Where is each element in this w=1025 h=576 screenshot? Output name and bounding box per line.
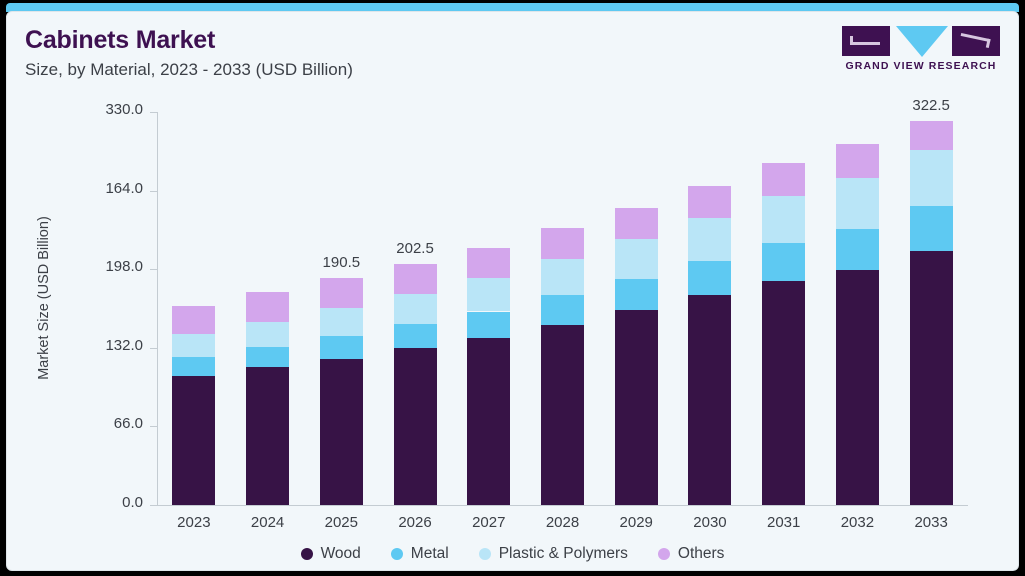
legend-item-metal[interactable]: Metal <box>391 545 449 563</box>
bar-segment-others[interactable] <box>246 292 289 321</box>
x-axis-tick-label: 2032 <box>826 514 889 531</box>
bar-segment-others[interactable] <box>910 121 953 150</box>
bar-segment-metal[interactable] <box>541 295 584 324</box>
grand-view-research-logo: GRAND VIEW RESEARCH <box>842 26 1000 78</box>
bar-segment-others[interactable] <box>836 144 879 179</box>
y-axis-tick-mark <box>150 112 157 113</box>
y-axis-tick-mark <box>150 269 157 270</box>
x-axis-tick-label: 2026 <box>384 514 447 531</box>
bar-group[interactable]: 202.5 <box>394 264 437 505</box>
bar-segment-plastic-polymers[interactable] <box>394 294 437 324</box>
bar-segment-wood[interactable] <box>910 251 953 505</box>
y-axis-tick: 66.0 <box>7 426 157 427</box>
y-axis-tick-label: 198.0 <box>105 258 143 275</box>
bar-segment-metal[interactable] <box>836 229 879 269</box>
x-axis-tick-label: 2028 <box>531 514 594 531</box>
bar-total-label: 190.5 <box>323 254 361 271</box>
bar-segment-plastic-polymers[interactable] <box>910 150 953 207</box>
bar-segment-metal[interactable] <box>910 206 953 251</box>
plot-area: Market Size (USD Billion) 330.0164.0198.… <box>7 90 1018 571</box>
bar-segment-wood[interactable] <box>688 295 731 505</box>
bar-segment-wood[interactable] <box>762 281 805 505</box>
y-axis-tick-mark <box>150 348 157 349</box>
bar-segment-metal[interactable] <box>246 347 289 368</box>
bar-segment-metal[interactable] <box>762 243 805 281</box>
bar-group[interactable]: 190.5 <box>320 278 363 505</box>
bar-total-label: 202.5 <box>396 240 434 257</box>
bar-segment-metal[interactable] <box>394 324 437 348</box>
y-axis-tick: 0.0 <box>7 505 157 506</box>
bar-group[interactable] <box>615 208 658 505</box>
y-axis-title: Market Size (USD Billion) <box>36 198 52 398</box>
bar-segment-metal[interactable] <box>467 312 510 339</box>
bar-group[interactable] <box>688 186 731 505</box>
bar-segment-wood[interactable] <box>172 376 215 505</box>
x-axis-tick-label: 2030 <box>678 514 741 531</box>
bar-group[interactable] <box>541 228 584 505</box>
bar-segment-wood[interactable] <box>467 338 510 505</box>
bar-group[interactable] <box>836 144 879 505</box>
logo-mark <box>842 26 1000 58</box>
bar-segment-wood[interactable] <box>246 367 289 505</box>
bar-group[interactable] <box>762 163 805 505</box>
x-axis-line <box>157 505 968 506</box>
bar-group[interactable] <box>467 248 510 505</box>
chart-legend: WoodMetalPlastic & PolymersOthers <box>7 545 1018 563</box>
legend-swatch-icon <box>391 548 403 560</box>
logo-right-block-icon <box>952 26 1000 56</box>
y-axis-tick: 330.0 <box>7 112 157 113</box>
legend-label: Wood <box>321 545 361 563</box>
bar-series-container: 190.5202.5322.5 <box>157 90 968 505</box>
bar-segment-metal[interactable] <box>172 357 215 377</box>
page-title: Cabinets Market <box>25 26 215 55</box>
bar-segment-others[interactable] <box>467 248 510 278</box>
bar-segment-plastic-polymers[interactable] <box>688 218 731 261</box>
bar-segment-wood[interactable] <box>541 325 584 505</box>
bar-segment-others[interactable] <box>762 163 805 196</box>
bar-segment-wood[interactable] <box>836 270 879 505</box>
x-axis-tick-label: 2029 <box>605 514 668 531</box>
bar-segment-plastic-polymers[interactable] <box>320 308 363 336</box>
bar-segment-others[interactable] <box>688 186 731 218</box>
bar-group[interactable]: 322.5 <box>910 121 953 505</box>
legend-label: Others <box>678 545 725 563</box>
y-axis-tick-label: 164.0 <box>105 180 143 197</box>
legend-item-plastic-polymers[interactable]: Plastic & Polymers <box>479 545 628 563</box>
legend-swatch-icon <box>479 548 491 560</box>
y-axis-tick: 132.0 <box>7 348 157 349</box>
legend-swatch-icon <box>658 548 670 560</box>
bar-segment-wood[interactable] <box>615 310 658 505</box>
x-axis-tick-label: 2031 <box>752 514 815 531</box>
y-axis-tick-label: 330.0 <box>105 101 143 118</box>
logo-text: GRAND VIEW RESEARCH <box>842 60 1000 72</box>
y-axis-tick-mark <box>150 191 157 192</box>
chart-card: Cabinets Market Size, by Material, 2023 … <box>6 11 1019 571</box>
legend-label: Metal <box>411 545 449 563</box>
y-axis-tick: 198.0 <box>7 269 157 270</box>
bar-segment-metal[interactable] <box>615 279 658 311</box>
bar-segment-plastic-polymers[interactable] <box>172 334 215 357</box>
bar-segment-plastic-polymers[interactable] <box>246 322 289 347</box>
legend-swatch-icon <box>301 548 313 560</box>
y-axis-tick: 164.0 <box>7 191 157 192</box>
bar-segment-wood[interactable] <box>320 359 363 505</box>
bar-group[interactable] <box>246 292 289 505</box>
bar-segment-plastic-polymers[interactable] <box>541 259 584 295</box>
x-axis-tick-label: 2024 <box>236 514 299 531</box>
bar-segment-metal[interactable] <box>688 261 731 296</box>
bar-segment-plastic-polymers[interactable] <box>762 196 805 243</box>
bar-segment-others[interactable] <box>541 228 584 259</box>
bar-segment-plastic-polymers[interactable] <box>836 178 879 229</box>
y-axis-tick-label: 132.0 <box>105 337 143 354</box>
legend-item-others[interactable]: Others <box>658 545 725 563</box>
y-axis-tick-mark <box>150 426 157 427</box>
bar-group[interactable] <box>172 306 215 505</box>
y-axis-tick-mark <box>150 505 157 506</box>
bar-segment-others[interactable] <box>320 278 363 308</box>
bar-segment-plastic-polymers[interactable] <box>467 278 510 311</box>
bar-segment-others[interactable] <box>172 306 215 333</box>
bar-segment-metal[interactable] <box>320 336 363 359</box>
page-subtitle: Size, by Material, 2023 - 2033 (USD Bill… <box>25 60 353 80</box>
bar-segment-wood[interactable] <box>394 348 437 505</box>
legend-item-wood[interactable]: Wood <box>301 545 361 563</box>
bar-segment-others[interactable] <box>615 208 658 240</box>
logo-triangle-icon <box>896 26 948 57</box>
x-axis-tick-label: 2025 <box>310 514 373 531</box>
bar-total-label: 322.5 <box>912 97 950 114</box>
x-axis-tick-label: 2023 <box>162 514 225 531</box>
x-axis-tick-label: 2027 <box>457 514 520 531</box>
x-axis-tick-label: 2033 <box>900 514 963 531</box>
bar-segment-others[interactable] <box>394 264 437 294</box>
y-axis-tick-label: 0.0 <box>122 494 143 511</box>
legend-label: Plastic & Polymers <box>499 545 628 563</box>
logo-left-block-icon <box>842 26 890 56</box>
chart-screenshot: Cabinets Market Size, by Material, 2023 … <box>0 0 1025 576</box>
y-axis-tick-label: 66.0 <box>114 415 143 432</box>
chart-header: Cabinets Market Size, by Material, 2023 … <box>7 12 1018 90</box>
bar-segment-plastic-polymers[interactable] <box>615 239 658 278</box>
